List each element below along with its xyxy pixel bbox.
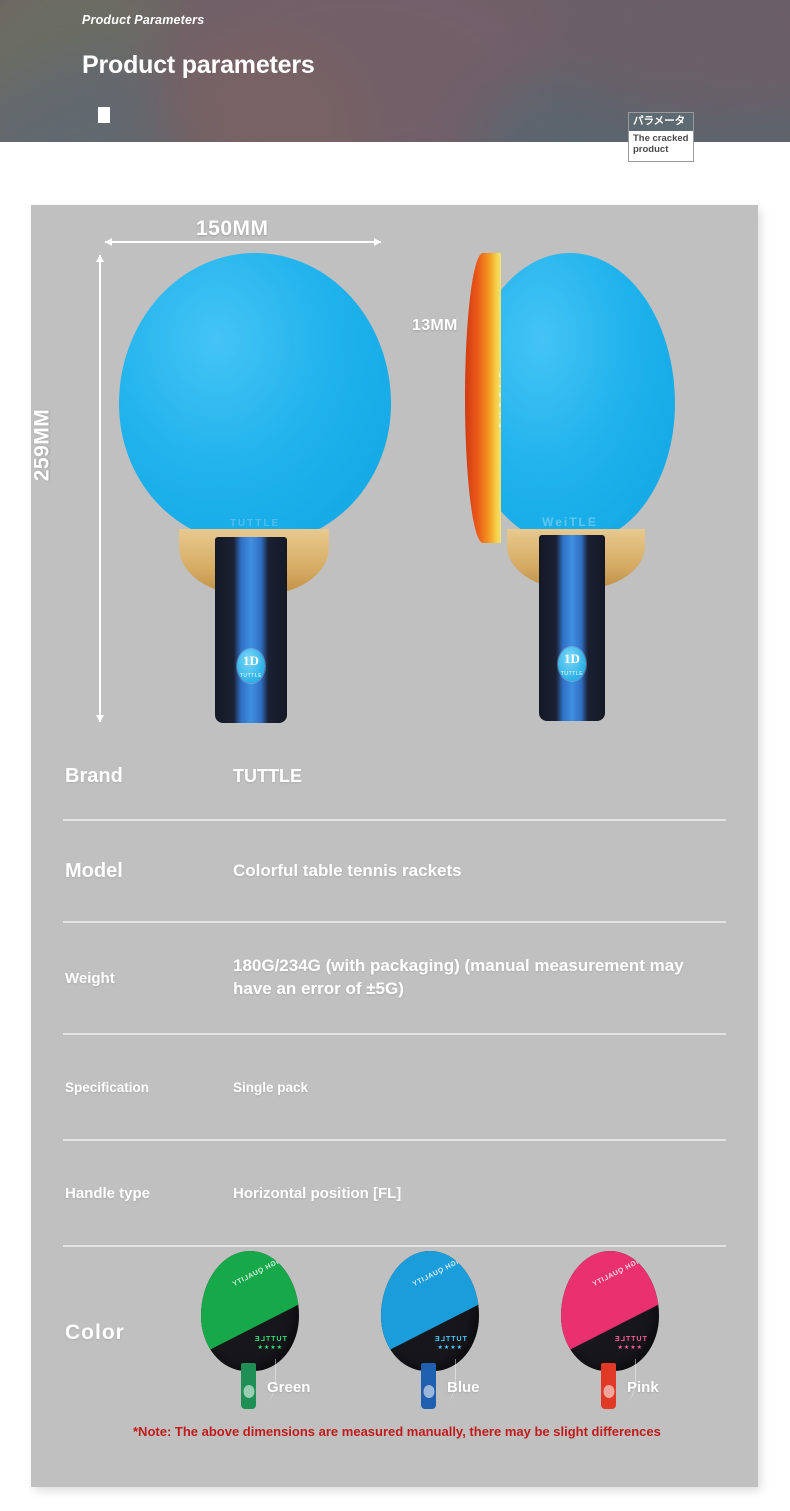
grip-logo-mark-side: 1D — [558, 651, 586, 667]
racket-cover-blue: HIGH QUALITY TUTTLE ★★★★ — [381, 1251, 479, 1371]
dimension-width-line — [105, 241, 381, 243]
cover-stars-green: ★★★★ — [257, 1344, 283, 1351]
racket-grip: 1D TUTTLE — [215, 537, 287, 723]
dimension-height-line — [99, 255, 101, 722]
color-label-pink: Pink — [627, 1379, 659, 1396]
spec-table: Brand TUTTLE Model Colorful table tennis… — [31, 733, 758, 1412]
spec-panel: 150MM 259MM 13MM TUTTLE 1D TUTTLE — [31, 205, 758, 1487]
table-row: Brand TUTTLE — [31, 733, 758, 819]
spec-key-weight: Weight — [65, 970, 233, 987]
racket-cover-pink: HIGH QUALITY TUTTLE ★★★★ — [561, 1251, 659, 1371]
product-diagram: 150MM 259MM 13MM TUTTLE 1D TUTTLE — [31, 205, 758, 740]
page-title: Product parameters — [82, 51, 315, 80]
cover-brand-green: TUTTLE — [254, 1336, 287, 1343]
badge-subtitle: The cracked product — [629, 131, 693, 162]
table-row-color: Color HIGH QUALITY TUTTLE ★★★★ Green — [31, 1247, 758, 1412]
color-swatch-blue[interactable]: HIGH QUALITY TUTTLE ★★★★ Blue — [371, 1249, 491, 1409]
cover-brand-blue: TUTTLE — [434, 1336, 467, 1343]
banner-eyebrow: Product Parameters — [82, 13, 204, 27]
cover-handle-blue — [421, 1363, 436, 1409]
cover-stars-pink: ★★★★ — [617, 1344, 643, 1351]
racket-blade-front: TUTTLE — [119, 253, 391, 543]
spec-key-brand: Brand — [65, 765, 233, 788]
cover-handle-pink — [601, 1363, 616, 1409]
dimension-height-label: 259MM — [30, 409, 54, 482]
racket-rubber-face — [119, 253, 391, 543]
color-label-blue: Blue — [447, 1379, 480, 1396]
cover-handle-green — [241, 1363, 256, 1409]
color-label-green: Green — [267, 1379, 310, 1396]
dimension-thickness-label: 13MM — [412, 317, 458, 335]
table-row: Model Colorful table tennis rackets — [31, 821, 758, 921]
racket-grip-logo-side: 1D TUTTLE — [558, 647, 586, 681]
racket-grip-side: 1D TUTTLE — [539, 535, 605, 721]
racket-edge-tape: TUTTLE — [465, 253, 501, 543]
color-swatch-group: HIGH QUALITY TUTTLE ★★★★ Green HIGH QUAL… — [191, 1249, 731, 1409]
color-swatch-pink[interactable]: HIGH QUALITY TUTTLE ★★★★ Pink — [551, 1249, 671, 1409]
spec-value-handle-type: Horizontal position [FL] — [233, 1185, 724, 1202]
table-row: Weight 180G/234G (with packaging) (manua… — [31, 923, 758, 1033]
racket-blade-emboss-side: WeiTLE — [494, 515, 645, 529]
spec-value-specification: Single pack — [233, 1080, 724, 1095]
spec-key-specification: Specification — [65, 1080, 233, 1095]
badge-title-japanese: パラメータ — [629, 113, 693, 131]
racket-blade-emboss: TUTTLE — [157, 518, 353, 529]
measurement-note: *Note: The above dimensions are measured… — [133, 1423, 693, 1442]
spec-value-brand: TUTTLE — [233, 766, 724, 787]
spec-key-handle-type: Handle type — [65, 1185, 233, 1202]
table-row: Specification Single pack — [31, 1035, 758, 1139]
dimension-width-label: 150MM — [196, 217, 269, 241]
edge-tape-text: TUTTLE — [498, 368, 501, 429]
parameter-badge: パラメータ The cracked product — [628, 112, 694, 162]
racket-side-view: TUTTLE WeiTLE 1D TUTTLE — [465, 253, 705, 723]
grip-logo-text-side: TUTTLE — [558, 671, 586, 677]
spec-key-model: Model — [65, 860, 233, 883]
color-swatch-green[interactable]: HIGH QUALITY TUTTLE ★★★★ Green — [191, 1249, 311, 1409]
table-row: Handle type Horizontal position [FL] — [31, 1141, 758, 1245]
racket-cover-green: HIGH QUALITY TUTTLE ★★★★ — [201, 1251, 299, 1371]
racket-grip-logo: 1D TUTTLE — [237, 649, 265, 683]
banner-square-marker — [98, 107, 110, 123]
racket-front-view: TUTTLE 1D TUTTLE — [119, 253, 391, 723]
grip-logo-mark: 1D — [237, 653, 265, 669]
cover-brand-pink: TUTTLE — [614, 1336, 647, 1343]
grip-logo-text: TUTTLE — [237, 673, 265, 679]
cover-stars-blue: ★★★★ — [437, 1344, 463, 1351]
racket-blade-side: TUTTLE WeiTLE — [465, 253, 675, 543]
spec-value-weight: 180G/234G (with packaging) (manual measu… — [233, 955, 724, 1001]
spec-value-model: Colorful table tennis rackets — [233, 861, 724, 881]
